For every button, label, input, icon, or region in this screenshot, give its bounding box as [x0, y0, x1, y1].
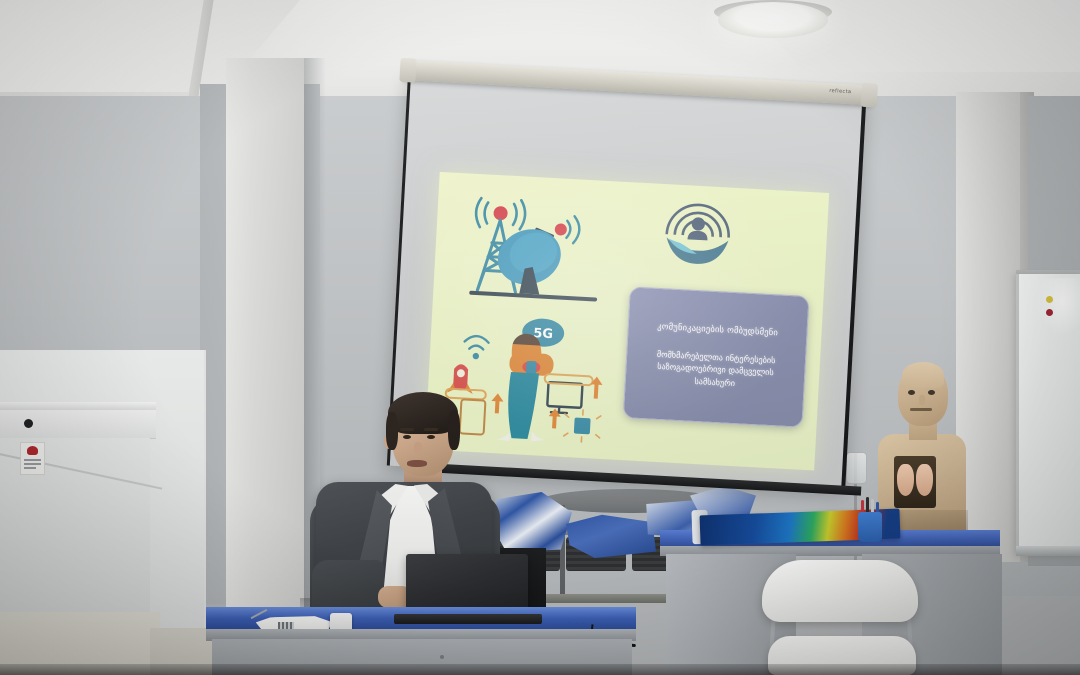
- mannequin-nose: [919, 395, 925, 405]
- presenter-mouth: [407, 460, 427, 467]
- chair-backrest[interactable]: [762, 560, 918, 622]
- safety-sign-line: [24, 463, 41, 465]
- cabinet-knob-icon[interactable]: [24, 419, 33, 428]
- presenter-nose: [414, 442, 422, 454]
- safety-sign-symbol-icon: [27, 446, 38, 455]
- logo-person-head-icon: [691, 217, 705, 231]
- safety-sign-line: [24, 459, 41, 461]
- slide-body: მომხმარებელთა ინტერესების საზოგადოებრივი…: [655, 348, 776, 392]
- person-5g-illustration: 5G: [433, 310, 620, 448]
- slide-text-panel: კომუნიკაციების ომბუდსმენი მომხმარებელთა …: [623, 286, 810, 428]
- iv-drip-bag-icon: [846, 452, 867, 484]
- person-figure-icon: [495, 332, 555, 443]
- chair-seat[interactable]: [768, 636, 916, 675]
- presenter-eyebrow: [400, 428, 414, 431]
- desk-screw-icon: [440, 655, 444, 659]
- structural-column: [226, 58, 304, 658]
- pen-cup[interactable]: [858, 512, 882, 542]
- network-node-icon: [563, 409, 601, 443]
- mannequin-skull-cap: [902, 362, 944, 388]
- mannequin-eye-icon: [928, 390, 935, 395]
- mannequin-eye-icon: [908, 390, 915, 395]
- presenter-eye-icon: [403, 435, 411, 439]
- whiteboard-tray: [1016, 546, 1080, 556]
- presenter-desk-body: [212, 639, 632, 675]
- whiteboard-magnet-yellow-icon[interactable]: [1046, 296, 1053, 303]
- ombudsman-logo-icon: [657, 190, 739, 272]
- cabinet-top: [0, 402, 156, 410]
- presenter-eyebrow: [424, 428, 438, 431]
- classroom-presentation-photo: 5G: [0, 0, 1080, 675]
- screen-brand-label: reflecta: [829, 88, 852, 95]
- radio-tower-and-dish-illustration: [452, 191, 618, 317]
- safety-sign: [20, 442, 45, 475]
- floor-left: [0, 612, 160, 675]
- presentation-slide: 5G: [425, 172, 829, 471]
- screen-case-cap: [399, 58, 416, 83]
- presenter-eye-icon: [427, 435, 435, 439]
- presenter-hair-side: [386, 412, 398, 450]
- safety-sign-line: [24, 467, 36, 469]
- tower-beacon-icon: [493, 206, 508, 221]
- pen-icon: [866, 497, 869, 513]
- slide-heading: კომუნიკაციების ომბუდსმენი: [657, 322, 778, 340]
- whiteboard-glare: [1036, 278, 1080, 336]
- mannequin-lung-icon: [916, 464, 933, 496]
- screen-case-cap: [861, 83, 878, 108]
- ceiling-light-icon: [718, 2, 828, 38]
- mannequin-mouth: [910, 408, 932, 411]
- monitor-icon: [547, 382, 582, 408]
- presenter-hair-side: [448, 410, 460, 450]
- dish-beacon-icon: [554, 223, 567, 236]
- mannequin-lung-icon: [897, 464, 914, 496]
- whiteboard-magnet-red-icon[interactable]: [1046, 309, 1053, 316]
